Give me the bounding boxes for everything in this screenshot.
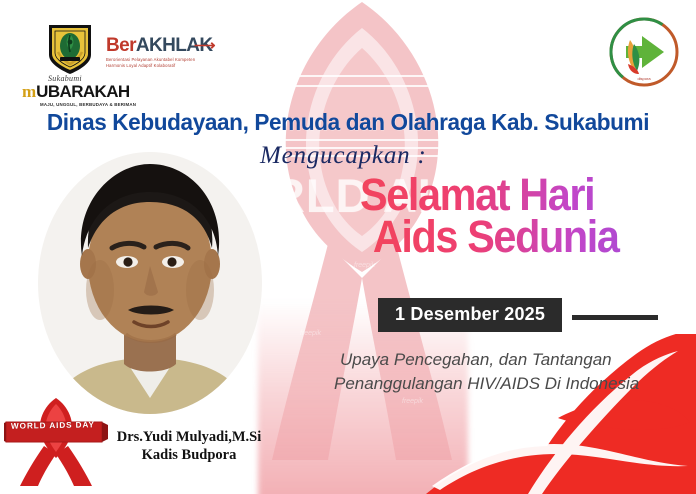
berakhlak-ber: Ber	[106, 35, 136, 56]
headline-line-1: Selamat Hari	[360, 174, 669, 216]
signature-role: Kadis Budpora	[64, 447, 314, 465]
headline: Selamat Hari Aids Sedunia	[360, 174, 669, 259]
tagline: Upaya Pencegahan, dan Tantangan Penanggu…	[340, 348, 684, 396]
mubarakah-word: UBARAKAH	[36, 83, 129, 100]
tagline-line-2: Penanggulangan HIV/AIDS Di Indonesia	[334, 372, 684, 396]
poster-canvas: WORLD AIDS DAY freepik freepik freepik f…	[0, 0, 696, 494]
watermark-tile: freepik	[402, 398, 423, 405]
greeting-text: Mengucapkan :	[260, 142, 427, 170]
signature-block: Drs.Yudi Mulyadi,M.Si Kadis Budpora	[64, 429, 314, 464]
sukabumi-regency-crest-icon	[46, 22, 94, 76]
page-title: Dinas Kebudayaan, Pemuda dan Olahraga Ka…	[14, 109, 682, 136]
headline-line-2: Aids Sedunia	[373, 216, 669, 258]
svg-text:dispora: dispora	[637, 76, 651, 81]
watermark-tile: freepik	[354, 262, 375, 269]
portrait-illustration	[38, 152, 262, 414]
berakhlak-tagline: Berorientasi Pelayanan Akuntabel Kompete…	[106, 57, 202, 69]
date-rule-divider	[572, 315, 658, 320]
logo-berakhlak: BerAKHLAK ⟶ Berorientasi Pelayanan Akunt…	[106, 36, 216, 78]
tagline-line-1: Upaya Pencegahan, dan Tantangan	[340, 348, 684, 372]
signature-name: Drs.Yudi Mulyadi,M.Si	[64, 429, 314, 447]
swoosh-arrow-icon: ⟶	[194, 36, 216, 54]
mubarakah-mark: m	[22, 83, 35, 100]
mubarakah-tagline: MAJU, UNGGUL, BERBUDAYA & BERIMAN	[40, 102, 136, 108]
watermark-tile: freepik	[300, 330, 321, 337]
mubarakah-wordmark: m UBARAKAH	[22, 83, 130, 100]
status-badge: 1 Desember 2025	[378, 298, 562, 332]
official-portrait-photo	[38, 152, 262, 414]
green-arrow-circle-logo-icon: dispora	[608, 16, 680, 88]
